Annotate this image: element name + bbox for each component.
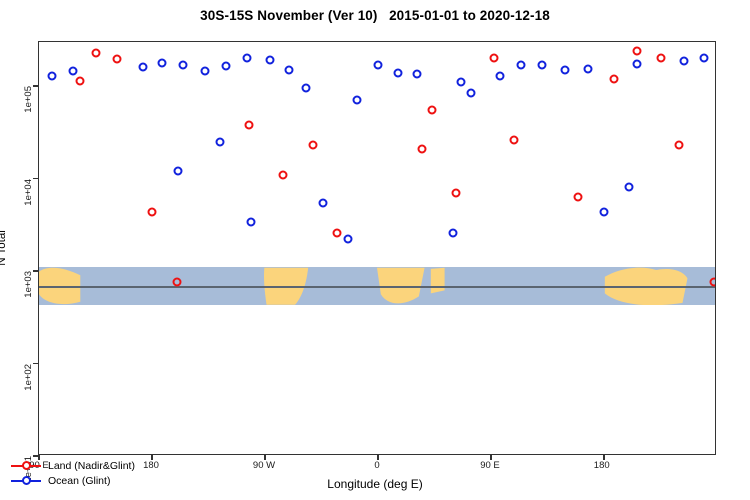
- data-point-ocean: [158, 58, 167, 67]
- data-point-ocean: [561, 65, 570, 74]
- data-point-ocean: [302, 84, 311, 93]
- data-point-ocean: [394, 68, 403, 77]
- data-point-ocean: [625, 182, 634, 191]
- data-point-land: [451, 188, 460, 197]
- data-point-ocean: [200, 67, 209, 76]
- data-point-ocean: [243, 54, 252, 63]
- y-axis-label: N Total: [0, 230, 8, 266]
- legend-label: Ocean (Glint): [48, 475, 110, 487]
- data-point-ocean: [680, 57, 689, 66]
- data-point-ocean: [343, 235, 352, 244]
- x-axis-tick-label: 180: [594, 460, 610, 471]
- data-point-land: [675, 141, 684, 150]
- data-point-ocean: [600, 207, 609, 216]
- data-point-land: [91, 48, 100, 57]
- x-axis-tick-label: 90 W: [253, 460, 275, 471]
- data-point-ocean: [215, 137, 224, 146]
- data-point-ocean: [174, 167, 183, 176]
- x-axis-tick-label: 90 E: [480, 460, 500, 471]
- legend-label: Land (Nadir&Glint): [48, 460, 135, 472]
- data-point-ocean: [266, 56, 275, 65]
- plot-area: [39, 42, 715, 454]
- latitude-center-line: [39, 286, 715, 288]
- data-point-land: [610, 74, 619, 83]
- data-point-land: [173, 278, 182, 287]
- data-point-land: [509, 136, 518, 145]
- data-point-land: [308, 141, 317, 150]
- data-point-ocean: [47, 71, 56, 80]
- data-point-land: [278, 170, 287, 179]
- data-point-ocean: [456, 78, 465, 87]
- map-band: [39, 267, 715, 305]
- y-axis-tick-label: 1e+04: [24, 179, 35, 206]
- y-axis-tick-label: 1e+02: [24, 364, 35, 391]
- legend-circle-icon: [22, 476, 31, 485]
- data-point-land: [632, 46, 641, 55]
- chart-legend: Land (Nadir&Glint)Ocean (Glint): [7, 456, 139, 491]
- data-point-ocean: [352, 96, 361, 105]
- legend-marker-icon: [11, 476, 41, 487]
- data-point-land: [427, 106, 436, 115]
- data-point-land: [76, 76, 85, 85]
- data-point-land: [148, 207, 157, 216]
- data-point-ocean: [139, 63, 148, 72]
- y-axis-tick-label: 1e+03: [24, 271, 35, 298]
- chart-figure: 30S-15S November (Ver 10) 2015-01-01 to …: [0, 0, 750, 500]
- land-madagascar: [431, 268, 445, 294]
- data-point-land: [112, 55, 121, 64]
- legend-item-land[interactable]: Land (Nadir&Glint): [11, 459, 135, 473]
- data-point-ocean: [374, 60, 383, 69]
- data-point-ocean: [412, 70, 421, 79]
- legend-circle-icon: [22, 461, 31, 470]
- plot-frame: 1e+051e+041e+031e+021e+01: [38, 41, 716, 455]
- data-point-land: [244, 120, 253, 129]
- legend-item-ocean[interactable]: Ocean (Glint): [11, 474, 135, 488]
- data-point-land: [573, 192, 582, 201]
- data-point-land: [417, 144, 426, 153]
- data-point-ocean: [318, 198, 327, 207]
- data-point-ocean: [68, 67, 77, 76]
- chart-title: 30S-15S November (Ver 10) 2015-01-01 to …: [0, 8, 750, 23]
- data-point-ocean: [495, 71, 504, 80]
- data-point-ocean: [284, 65, 293, 74]
- data-point-land: [332, 228, 341, 237]
- x-axis-tick-label: 0: [374, 460, 379, 471]
- legend-marker-icon: [11, 461, 41, 472]
- data-point-ocean: [700, 54, 709, 63]
- data-point-ocean: [583, 64, 592, 73]
- data-point-ocean: [247, 217, 256, 226]
- data-point-ocean: [449, 228, 458, 237]
- data-point-ocean: [179, 60, 188, 69]
- data-point-ocean: [517, 60, 526, 69]
- data-point-ocean: [538, 60, 547, 69]
- data-point-ocean: [222, 62, 231, 71]
- data-point-land: [489, 54, 498, 63]
- x-axis-tick-label: 180: [143, 460, 159, 471]
- data-point-ocean: [466, 88, 475, 97]
- y-axis-tick-label: 1e+05: [24, 86, 35, 113]
- data-point-land: [656, 54, 665, 63]
- data-point-ocean: [632, 59, 641, 68]
- data-point-land: [710, 278, 715, 287]
